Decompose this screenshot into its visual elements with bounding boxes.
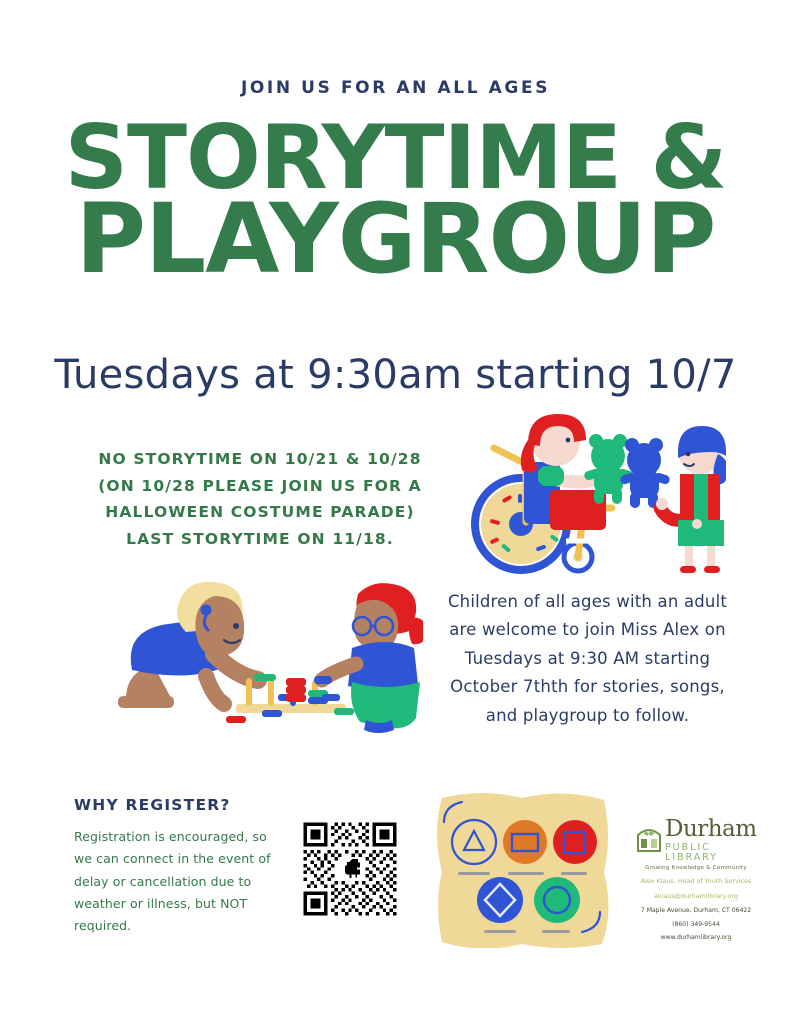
- contact-website[interactable]: www.durhamlibrary.org: [636, 933, 756, 943]
- schedule-note-line: HALLOWEEN COSTUME PARADE): [60, 499, 460, 526]
- registration-qr-code[interactable]: [300, 819, 400, 919]
- shape-rectangle-in-circle: [503, 820, 547, 864]
- sensory-shapes-card: [430, 788, 615, 948]
- eyebrow-text: JOIN US FOR AN ALL AGES: [0, 78, 791, 98]
- schedule-notes: NO STORYTIME ON 10/21 & 10/28 (ON 10/28 …: [60, 446, 460, 553]
- subtitle-schedule: Tuesdays at 9:30am starting 10/7: [0, 352, 791, 398]
- logo-name: Durham: [665, 816, 757, 842]
- why-register-section: WHY REGISTER? Registration is encouraged…: [74, 796, 289, 937]
- contact-email[interactable]: aklaus@durhamlibrary.org: [636, 891, 756, 901]
- contact-address: 7 Maple Avenue, Durham, CT 06422: [636, 906, 756, 916]
- shape-diamond-in-circle: [477, 877, 523, 923]
- logo-subtitle: PUBLIC LIBRARY: [665, 843, 757, 862]
- schedule-note-line: LAST STORYTIME ON 11/18.: [60, 526, 460, 553]
- why-register-heading: WHY REGISTER?: [74, 796, 289, 814]
- why-register-body: Registration is encouraged, so we can co…: [74, 826, 289, 937]
- library-logo-block: Durham PUBLIC LIBRARY Growing Knowledge …: [636, 818, 756, 943]
- poster-canvas: JOIN US FOR AN ALL AGES STORYTIME & PLAY…: [0, 0, 791, 1024]
- library-window-tree-icon: [636, 825, 662, 856]
- program-description: Children of all ages with an adult are w…: [445, 588, 730, 730]
- shape-circle-in-circle: [534, 877, 580, 923]
- logo-wordmark: Durham PUBLIC LIBRARY: [665, 818, 757, 862]
- logo-tagline: Growing Knowledge & Community: [636, 865, 756, 871]
- page-title: STORYTIME & PLAYGROUP: [0, 118, 791, 283]
- illustration-children-blocks: [118, 578, 423, 737]
- logo-lockup: Durham PUBLIC LIBRARY: [636, 818, 756, 862]
- schedule-note-line: (ON 10/28 PLEASE JOIN US FOR A: [60, 473, 460, 500]
- contact-phone: (860) 349-9544: [636, 920, 756, 930]
- contact-person: Alex Klaus, Head of Youth Services: [636, 876, 756, 886]
- illustration-wheelchair-children: [466, 404, 726, 583]
- schedule-note-line: NO STORYTIME ON 10/21 & 10/28: [60, 446, 460, 473]
- title-line-2: PLAYGROUP: [0, 195, 791, 283]
- shape-square-in-circle: [553, 820, 597, 864]
